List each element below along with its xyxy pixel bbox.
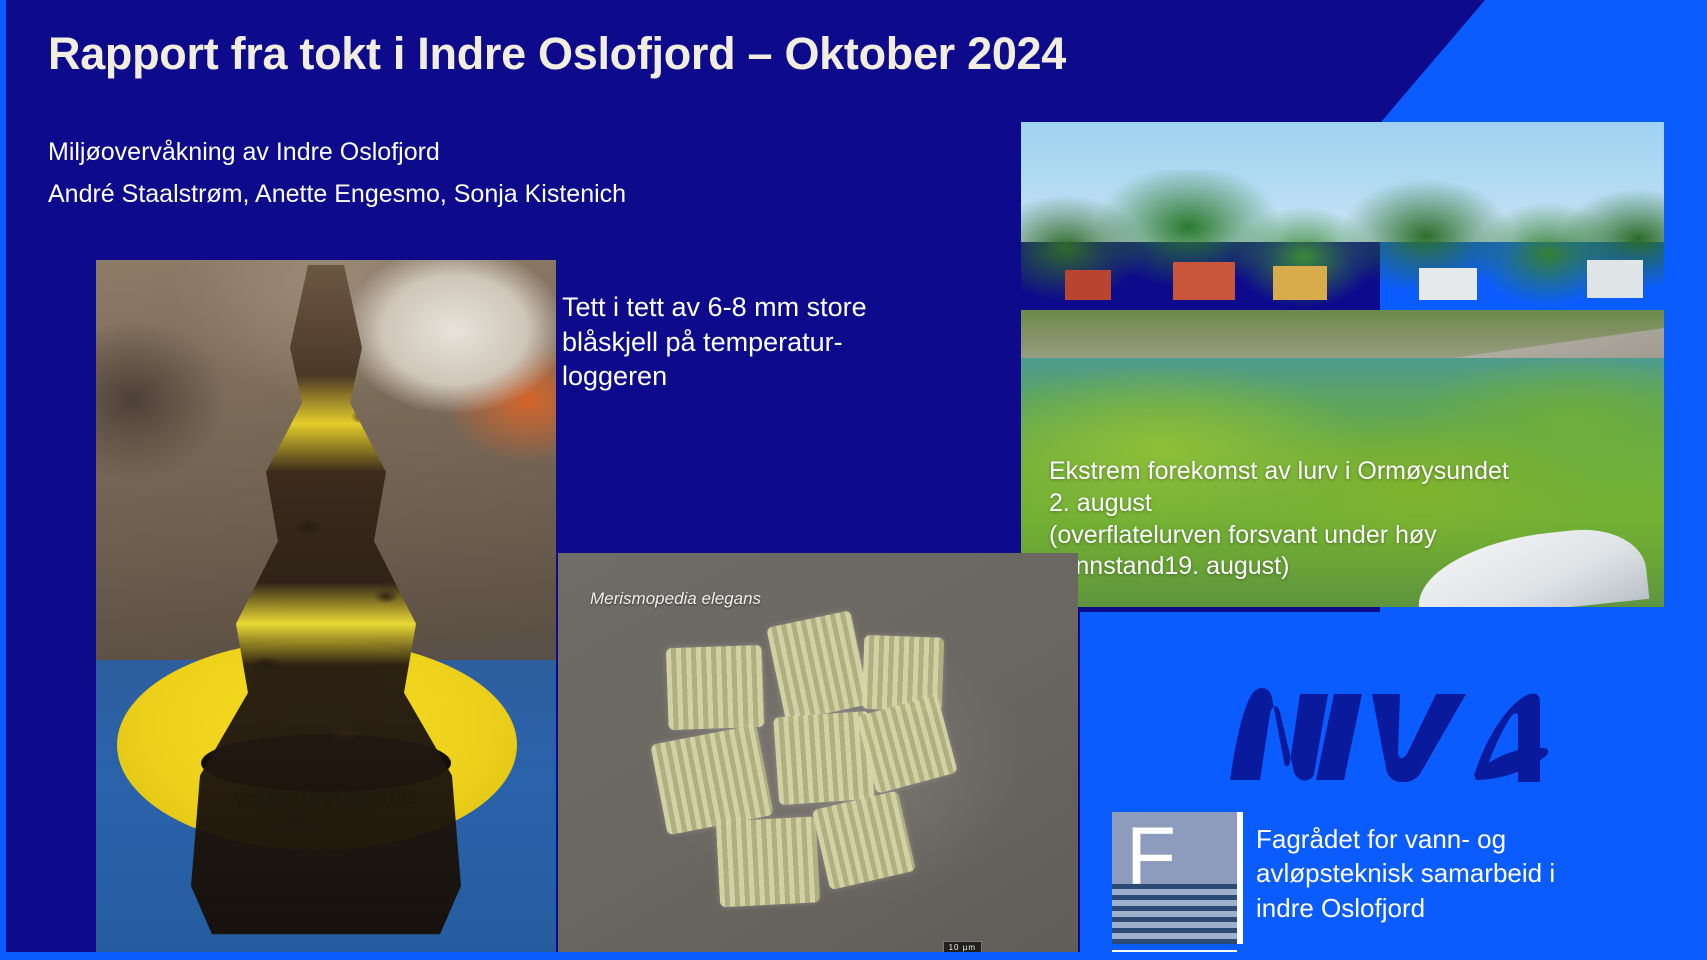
presentation-slide: Rapport fra tokt i Indre Oslofjord – Okt… (0, 0, 1707, 960)
colony-patch (766, 610, 870, 722)
house (1065, 270, 1111, 300)
fagraadet-logo-mark: F (1112, 812, 1243, 944)
fagraadet-line-1: Fagrådet for vann- og (1256, 822, 1686, 856)
ormoysundet-caption: Ekstrem forekomst av lurv i Ormøysundet … (1049, 456, 1649, 583)
fagraadet-line-3: indre Oslofjord (1256, 891, 1686, 925)
species-label: Merismopedia elegans (590, 589, 761, 609)
tinytag-url-text: www.tinytag.info (235, 782, 417, 813)
colony-patch (650, 724, 774, 835)
colony-patch (812, 790, 916, 890)
house (1587, 260, 1643, 298)
bottom-blue-edge (0, 952, 1707, 960)
photo-ormoysundet: Ekstrem forekomst av lurv i Ormøysundet … (1021, 122, 1664, 607)
subtitle-programme: Miljøovervåkning av Indre Oslofjord (48, 138, 440, 167)
mussel-caption: Tett i tett av 6-8 mm store blåskjell på… (562, 290, 962, 394)
mussel-caption-line-3: loggeren (562, 359, 962, 394)
left-blue-edge (0, 0, 6, 960)
house (1419, 268, 1477, 300)
mussel-caption-line-2: blåskjell på temperatur- (562, 325, 962, 360)
ormoysundet-caption-line-1: Ekstrem forekomst av lurv i Ormøysundet (1049, 456, 1649, 488)
house (1273, 266, 1327, 300)
fagraadet-name: Fagrådet for vann- og avløpsteknisk sama… (1256, 822, 1686, 925)
colony-patch (666, 645, 765, 730)
house (1173, 262, 1235, 300)
niva-logo (1222, 686, 1552, 782)
photo-microscope-merismopedia: Merismopedia elegans 10 µm (558, 553, 1078, 960)
ormoysundet-caption-line-3: (overflatelurven forsvant under høy (1049, 520, 1649, 552)
subtitle-authors: André Staalstrøm, Anette Engesmo, Sonja … (48, 180, 626, 209)
fagraadet-waves-icon (1112, 884, 1237, 944)
fagraadet-line-2: avløpsteknisk samarbeid i (1256, 856, 1686, 890)
mussel-caption-line-1: Tett i tett av 6-8 mm store (562, 290, 962, 325)
algae-colony (634, 593, 1003, 936)
colony-patch (716, 816, 820, 907)
page-title: Rapport fra tokt i Indre Oslofjord – Okt… (48, 28, 1066, 80)
ormoysundet-caption-line-4: vannstand19. august) (1049, 551, 1649, 583)
ormoysundet-caption-line-2: 2. august (1049, 488, 1649, 520)
photo-mussels-on-logger: www.tinytag.info (96, 260, 556, 960)
